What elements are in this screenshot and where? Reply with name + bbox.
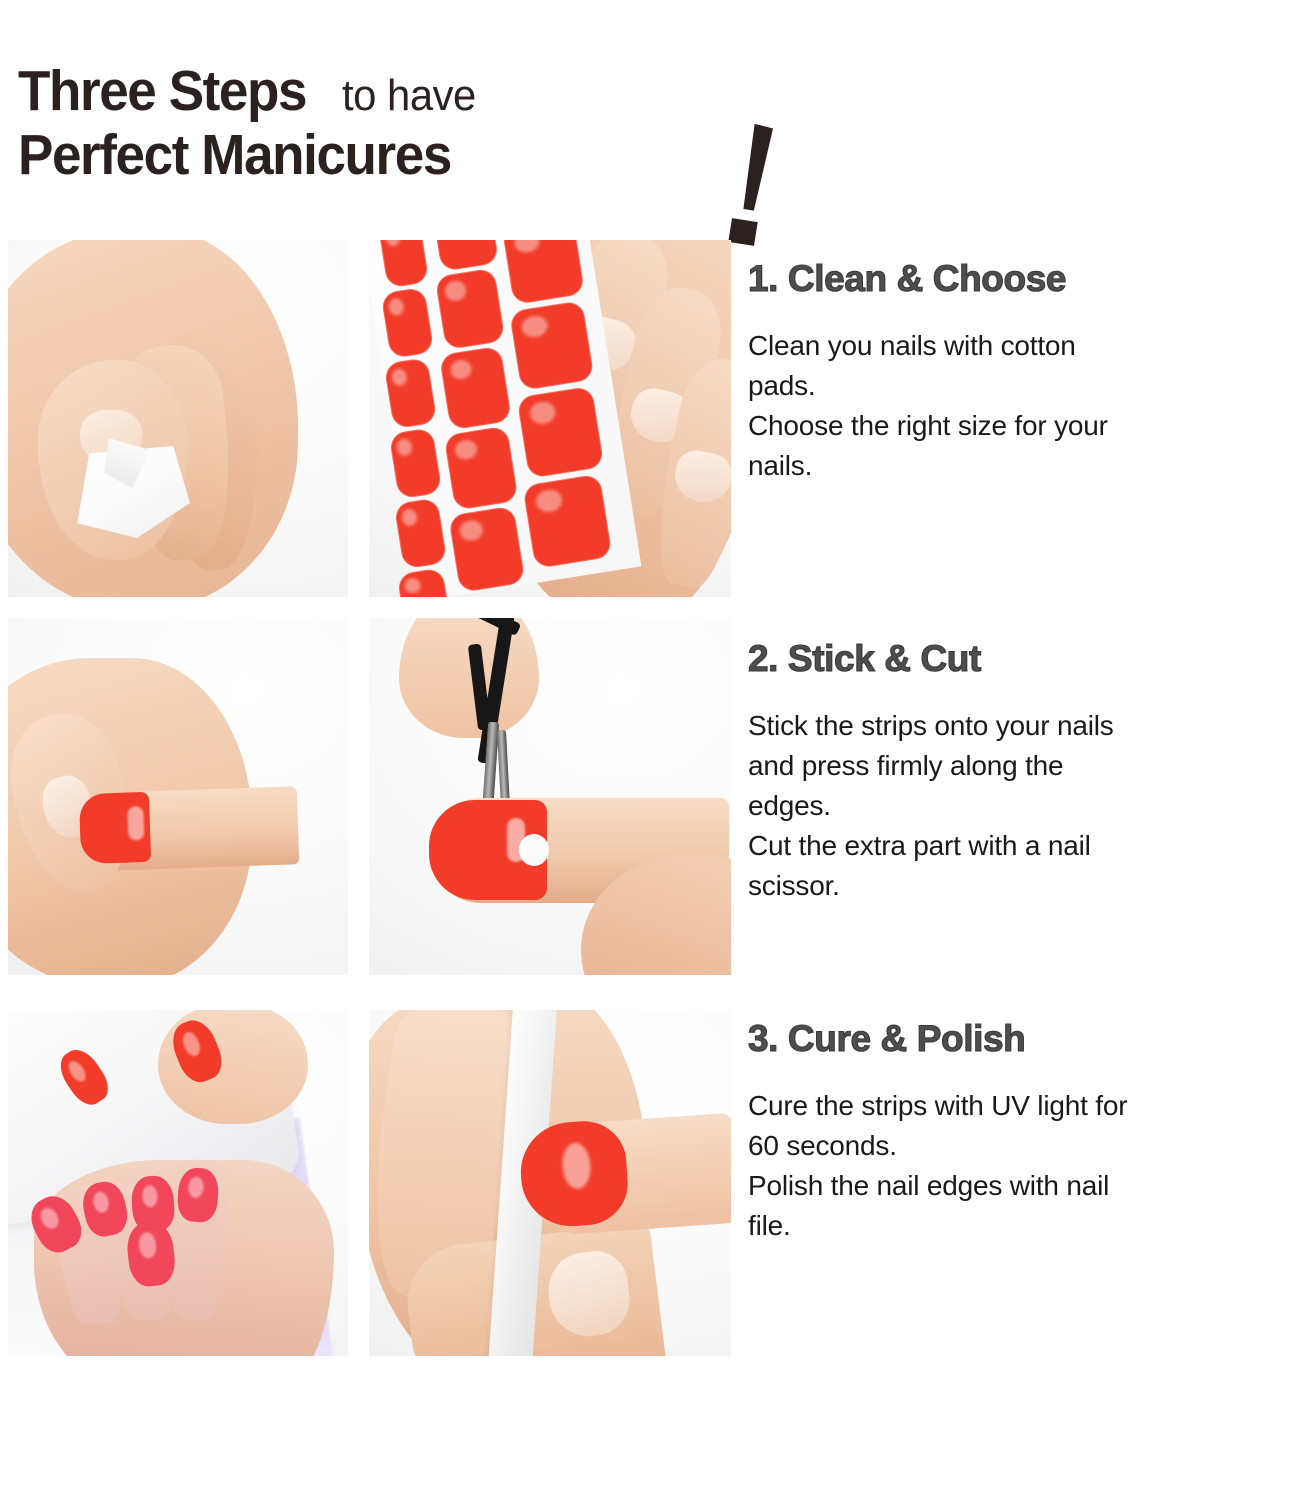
step-3-heading: 3. Cure & Polish: [748, 1018, 1300, 1060]
photo-hand-cotton-pad: [8, 240, 348, 597]
title-line-1: Three Steps to have: [18, 58, 483, 124]
step-2-line-1: Stick the strips onto your nails: [748, 706, 1300, 746]
photo-polish-edges-with-file: [369, 1010, 731, 1356]
title-strong-2: Perfect Manicures: [18, 122, 451, 188]
title-line-2: Perfect Manicures: [18, 122, 484, 188]
page-title: Three Steps to have Perfect Manicures: [18, 58, 798, 208]
title-light-1: to have: [342, 71, 476, 121]
exclamation-mark-icon: [724, 124, 784, 244]
step-1-heading: 1. Clean & Choose: [748, 258, 1300, 300]
step-1: 1. Clean & Choose Clean you nails with c…: [748, 258, 1300, 486]
step-2-line-4: Cut the extra part with a nail: [748, 826, 1300, 866]
step-1-line-3: Choose the right size for your: [748, 406, 1300, 446]
photo-stick-strip-on-nail: [8, 618, 348, 975]
strip-highlight: [127, 806, 144, 841]
lamp-brand-label: [8, 1100, 98, 1169]
step-1-line-4: nails.: [748, 446, 1300, 486]
red-nail: [429, 800, 547, 900]
step-2-line-2: and press firmly along the: [748, 746, 1300, 786]
step-1-line-2: pads.: [748, 366, 1300, 406]
nail-highlight: [507, 818, 525, 862]
step-3-body: Cure the strips with UV light for 60 sec…: [748, 1086, 1300, 1246]
step-3-line-4: file.: [748, 1206, 1300, 1246]
step-3-line-1: Cure the strips with UV light for: [748, 1086, 1300, 1126]
photo-grid: [8, 240, 731, 1356]
photo-cut-extra-with-scissor: [369, 618, 731, 975]
step-1-body: Clean you nails with cotton pads. Choose…: [748, 326, 1300, 486]
photo-cure-under-uv-lamp: [8, 1010, 348, 1356]
step-1-line-1: Clean you nails with cotton: [748, 326, 1300, 366]
step-3-line-3: Polish the nail edges with nail: [748, 1166, 1300, 1206]
step-3: 3. Cure & Polish Cure the strips with UV…: [748, 1018, 1300, 1246]
title-strong-1: Three Steps: [18, 58, 306, 124]
step-2-line-5: scissor.: [748, 866, 1300, 906]
photo-nail-strip-sheet: [369, 240, 731, 597]
step-2-body: Stick the strips onto your nails and pre…: [748, 706, 1300, 906]
holding-finger: [399, 618, 539, 738]
step-2: 2. Stick & Cut Stick the strips onto you…: [748, 638, 1300, 906]
nail-4: [176, 1167, 220, 1224]
exclamation-bar: [738, 123, 773, 211]
red-nail-strip: [79, 792, 151, 864]
step-3-line-2: 60 seconds.: [748, 1126, 1300, 1166]
step-2-line-3: edges.: [748, 786, 1300, 826]
exclamation-dot: [728, 218, 757, 246]
nail-highlight: [561, 1142, 592, 1190]
step-2-heading: 2. Stick & Cut: [748, 638, 1300, 680]
